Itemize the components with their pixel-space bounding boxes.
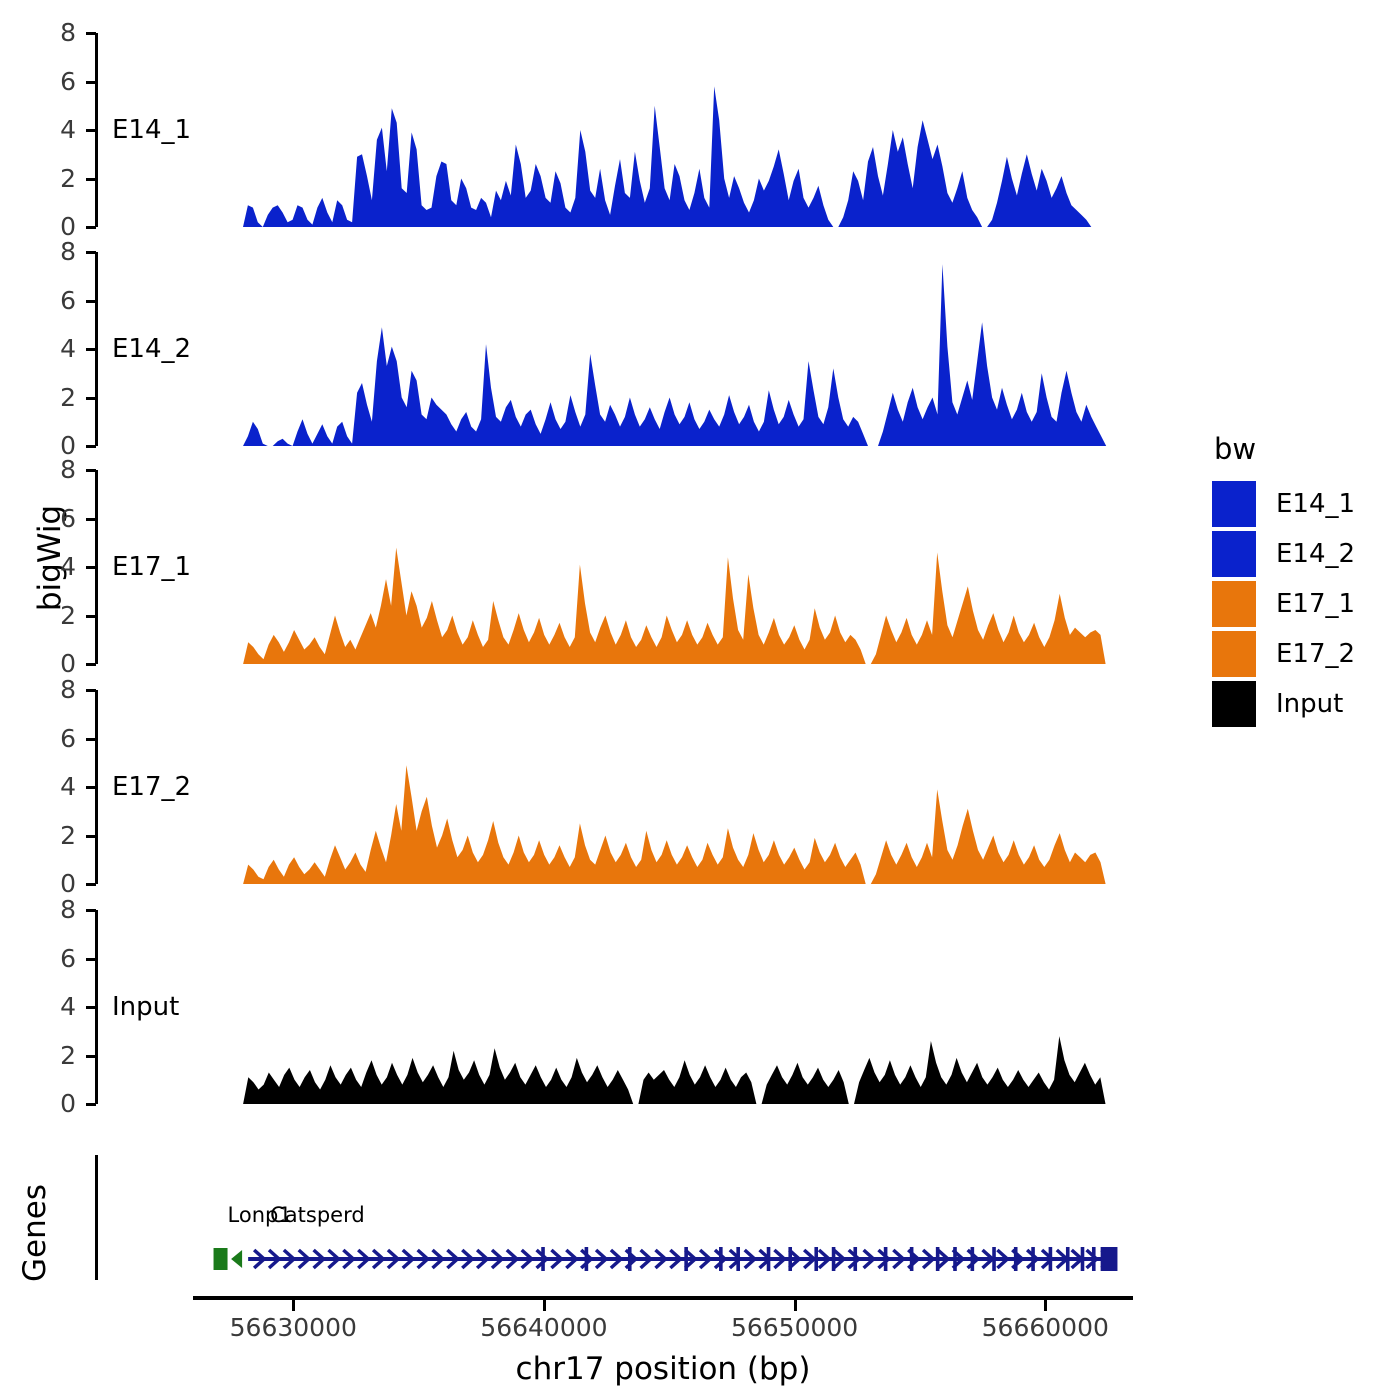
legend-title: bw — [1214, 432, 1392, 466]
legend-label-e14_2: E14_2 — [1276, 539, 1355, 569]
legend: bw E14_1E14_2E17_1E17_2Input — [1212, 432, 1392, 730]
y-tick — [86, 1055, 96, 1058]
x-tick — [543, 1300, 546, 1311]
y-tick-label: 2 — [14, 385, 76, 410]
legend-swatch-e14_2 — [1212, 531, 1256, 577]
y-tick — [86, 786, 96, 789]
track-panel-input: 02468Input — [0, 900, 1200, 1114]
y-tick-label: 2 — [14, 166, 76, 191]
legend-swatch-e17_1 — [1212, 581, 1256, 627]
y-tick — [86, 251, 96, 254]
y-tick-label: 2 — [14, 1043, 76, 1068]
signal-area-input — [98, 910, 1158, 1104]
legend-swatch-input — [1212, 681, 1256, 727]
legend-label-e17_2: E17_2 — [1276, 639, 1355, 669]
legend-items: E14_1E14_2E17_1E17_2Input — [1212, 480, 1392, 728]
y-tick-label: 6 — [14, 726, 76, 751]
genes-panel: Lonp1Catsperd — [0, 1155, 1200, 1300]
y-tick-label: 8 — [14, 20, 76, 45]
y-tick-label: 2 — [14, 603, 76, 628]
y-tick — [86, 178, 96, 181]
x-tick — [292, 1300, 295, 1311]
x-tick-label: 56640000 — [434, 1313, 654, 1342]
y-tick — [86, 663, 96, 666]
y-tick — [86, 615, 96, 618]
x-tick — [1044, 1300, 1047, 1311]
legend-item-e14_2[interactable]: E14_2 — [1212, 530, 1392, 578]
y-tick — [86, 469, 96, 472]
y-tick — [86, 835, 96, 838]
signal-area-e17_1 — [98, 470, 1158, 664]
y-tick — [86, 397, 96, 400]
y-tick-label: 0 — [14, 871, 76, 896]
x-axis-title: chr17 position (bp) — [193, 1351, 1133, 1387]
y-tick-label: 6 — [14, 506, 76, 531]
y-tick-label: 0 — [14, 651, 76, 676]
legend-label-input: Input — [1276, 689, 1343, 719]
y-tick-label: 6 — [14, 69, 76, 94]
y-tick — [86, 566, 96, 569]
y-tick-label: 4 — [14, 117, 76, 142]
y-tick-label: 8 — [14, 239, 76, 264]
x-tick-label: 56650000 — [685, 1313, 905, 1342]
y-tick — [86, 348, 96, 351]
x-tick-label: 56660000 — [935, 1313, 1155, 1342]
y-tick — [86, 300, 96, 303]
legend-swatch-e17_2 — [1212, 631, 1256, 677]
y-tick — [86, 883, 96, 886]
y-tick — [86, 689, 96, 692]
y-tick — [86, 909, 96, 912]
y-tick — [86, 129, 96, 132]
signal-area-e14_1 — [98, 33, 1158, 227]
y-tick-label: 8 — [14, 677, 76, 702]
x-axis: 56630000566400005665000056660000 chr17 p… — [0, 1296, 1200, 1396]
x-tick-label: 56630000 — [183, 1313, 403, 1342]
legend-item-e17_2[interactable]: E17_2 — [1212, 630, 1392, 678]
legend-label-e17_1: E17_1 — [1276, 589, 1355, 619]
track-panel-e14_2: 02468E14_2 — [0, 242, 1200, 456]
gene-label-catsperd: Catsperd — [270, 1203, 365, 1227]
y-tick — [86, 958, 96, 961]
y-tick-label: 4 — [14, 554, 76, 579]
y-tick — [86, 738, 96, 741]
signal-area-e17_2 — [98, 690, 1158, 884]
y-tick-label: 8 — [14, 457, 76, 482]
legend-item-input[interactable]: Input — [1212, 680, 1392, 728]
y-tick-label: 2 — [14, 823, 76, 848]
legend-label-e14_1: E14_1 — [1276, 489, 1355, 519]
x-tick — [794, 1300, 797, 1311]
track-panel-e17_1: 02468E17_1 — [0, 460, 1200, 674]
legend-item-e14_1[interactable]: E14_1 — [1212, 480, 1392, 528]
y-tick — [86, 32, 96, 35]
y-tick — [86, 1006, 96, 1009]
track-panel-e14_1: 02468E14_1 — [0, 23, 1200, 237]
track-panel-e17_2: 02468E17_2 — [0, 680, 1200, 894]
y-tick — [86, 1103, 96, 1106]
y-tick — [86, 81, 96, 84]
y-tick-label: 6 — [14, 946, 76, 971]
legend-item-e17_1[interactable]: E17_1 — [1212, 580, 1392, 628]
y-tick-label: 0 — [14, 214, 76, 239]
y-tick — [86, 518, 96, 521]
signal-area-e14_2 — [98, 252, 1158, 446]
y-tick-label: 4 — [14, 774, 76, 799]
y-tick — [86, 226, 96, 229]
y-tick-label: 4 — [14, 994, 76, 1019]
y-tick-label: 8 — [14, 897, 76, 922]
y-tick-label: 4 — [14, 336, 76, 361]
y-tick — [86, 445, 96, 448]
legend-swatch-e14_1 — [1212, 481, 1256, 527]
y-tick-label: 6 — [14, 288, 76, 313]
y-tick-label: 0 — [14, 1091, 76, 1116]
x-axis-line — [193, 1296, 1133, 1300]
